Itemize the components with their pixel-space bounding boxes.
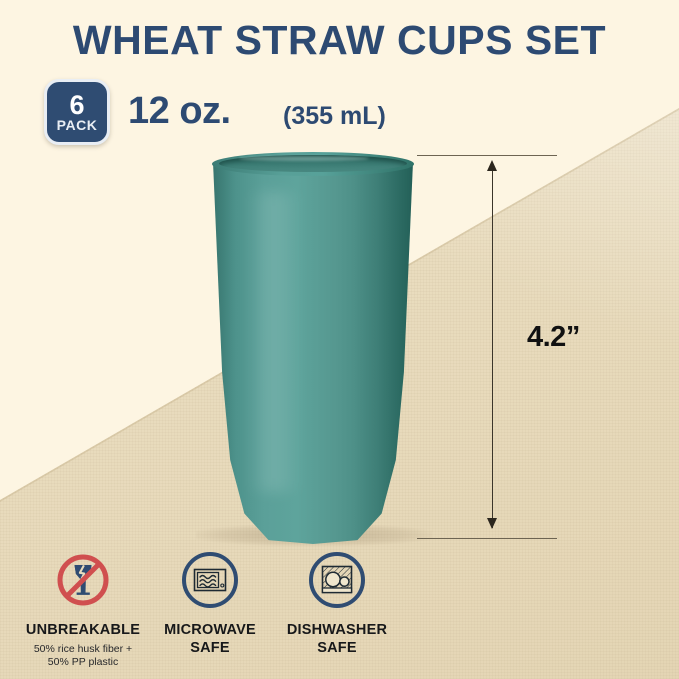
feature-title-line2: SAFE [190, 640, 229, 656]
dimension-arrow-up-icon [487, 160, 497, 171]
feature-title-unbreakable: UNBREAKABLE [26, 621, 140, 639]
cup-rim-highlight [239, 156, 369, 161]
pack-count-badge: 6 PACK [44, 79, 110, 145]
feature-title-line1: DISHWASHER [287, 622, 387, 638]
feature-subtitle-line1: 50% rice husk fiber + [34, 643, 132, 655]
feature-badges: UNBREAKABLE 50% rice husk fiber + 50% PP… [0, 548, 420, 669]
feature-microwave-safe: MICROWAVE SAFE [149, 548, 271, 669]
feature-subtitle-line2: 50% PP plastic [48, 656, 118, 668]
dimension-line [492, 166, 493, 528]
feature-title-line1: MICROWAVE [164, 622, 256, 638]
size-primary-label: 12 oz. [128, 88, 231, 134]
dimension-arrow-down-icon [487, 518, 497, 529]
product-infographic: WHEAT STRAW CUPS SET 6 PACK 12 oz. (355 … [0, 0, 679, 679]
feature-title-dishwasher: DISHWASHER SAFE [287, 621, 387, 657]
cup-body [212, 162, 414, 544]
microwave-icon [178, 548, 242, 612]
dishwasher-icon [305, 548, 369, 612]
feature-title-microwave: MICROWAVE SAFE [164, 621, 256, 657]
dimension-tick-bottom [417, 538, 557, 539]
dimension-height-label: 4.2” [527, 321, 580, 354]
dimension-tick-top [417, 155, 557, 156]
pack-count-label: PACK [57, 118, 98, 133]
feature-unbreakable: UNBREAKABLE 50% rice husk fiber + 50% PP… [22, 548, 144, 669]
feature-dishwasher-safe: DISHWASHER SAFE [276, 548, 398, 669]
no-break-glass-icon [51, 548, 115, 612]
pack-count-value: 6 [69, 93, 84, 118]
feature-title-line2: SAFE [317, 640, 356, 656]
size-secondary-label: (355 mL) [283, 99, 386, 134]
page-title: WHEAT STRAW CUPS SET [0, 17, 679, 64]
feature-subtitle-unbreakable: 50% rice husk fiber + 50% PP plastic [34, 643, 132, 669]
product-cup-image [207, 152, 419, 544]
